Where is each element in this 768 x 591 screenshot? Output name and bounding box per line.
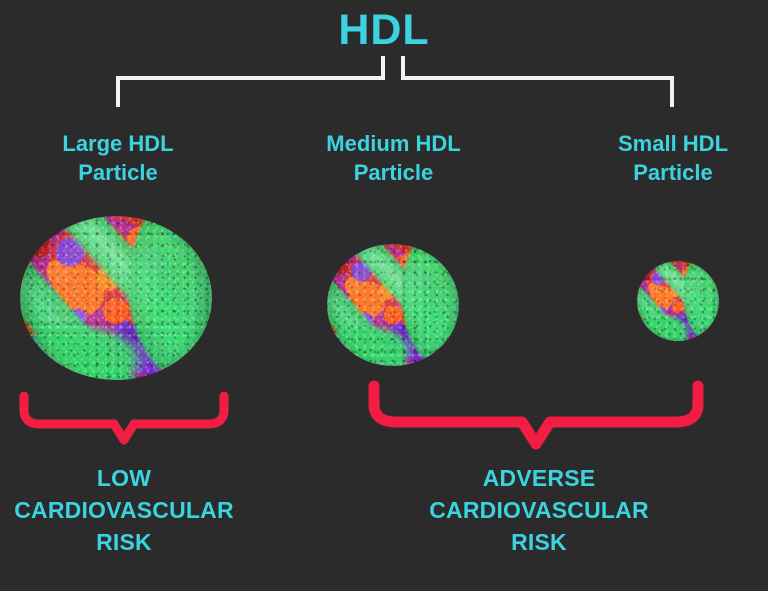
- particle-shading: [637, 261, 719, 341]
- red-brace-adverse-risk: [364, 374, 708, 460]
- hdl-particle-medium-image: [327, 244, 459, 366]
- risk-label-low-line2: CARDIOVASCULAR: [8, 494, 240, 526]
- particle-label-large: Large HDL Particle: [18, 129, 218, 187]
- risk-label-low-line1: LOW: [8, 462, 240, 494]
- connector-bracket: [0, 56, 768, 112]
- particle-label-small-line1: Small HDL: [578, 129, 768, 158]
- risk-label-low: LOW CARDIOVASCULAR RISK: [8, 462, 240, 558]
- particle-label-medium-line1: Medium HDL: [291, 129, 496, 158]
- particle-shading: [20, 216, 212, 380]
- hdl-particle-large-image: [20, 216, 212, 380]
- particle-label-small: Small HDL Particle: [578, 129, 768, 187]
- particle-shading: [327, 244, 459, 366]
- risk-label-low-line3: RISK: [8, 526, 240, 558]
- particle-label-large-line2: Particle: [18, 158, 218, 187]
- red-brace-low-risk-path: [24, 396, 224, 440]
- risk-label-adverse-line2: CARDIOVASCULAR: [414, 494, 664, 526]
- particle-label-small-line2: Particle: [578, 158, 768, 187]
- hdl-particle-small-image: [637, 261, 719, 341]
- red-brace-low-risk-svg: [14, 384, 234, 454]
- connector-right-branch: [403, 78, 672, 105]
- page-title: HDL: [0, 4, 768, 56]
- particle-label-large-line1: Large HDL: [18, 129, 218, 158]
- red-brace-adverse-risk-path: [374, 386, 698, 444]
- connector-left-branch: [118, 78, 383, 105]
- risk-label-adverse: ADVERSE CARDIOVASCULAR RISK: [414, 462, 664, 558]
- infographic-canvas: HDL Large HDL Particle Medium HDL Partic…: [0, 0, 768, 591]
- risk-label-adverse-line1: ADVERSE: [414, 462, 664, 494]
- red-brace-adverse-risk-svg: [364, 374, 708, 460]
- red-brace-low-risk: [14, 384, 234, 454]
- particle-label-medium-line2: Particle: [291, 158, 496, 187]
- connector-bracket-svg: [0, 56, 768, 112]
- particle-label-medium: Medium HDL Particle: [291, 129, 496, 187]
- risk-label-adverse-line3: RISK: [414, 526, 664, 558]
